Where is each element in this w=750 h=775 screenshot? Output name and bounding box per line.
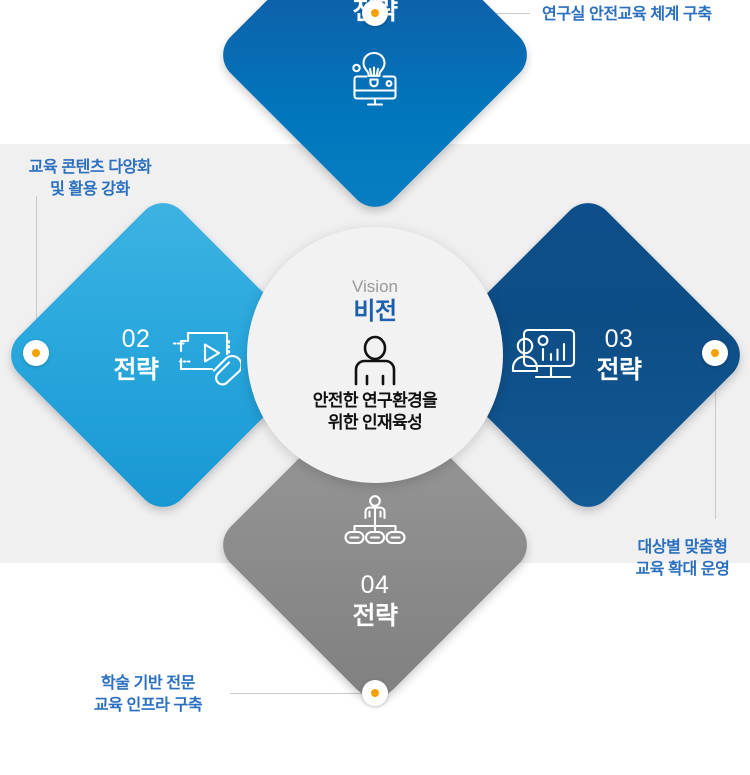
strategy-word-03: 전략 <box>596 354 641 386</box>
vision-label-en: Vision <box>352 277 398 297</box>
callout-04-line1: 학술 기반 전문 <box>78 673 218 695</box>
lightbulb-monitor-icon <box>344 49 406 109</box>
callout-03-line1: 대상별 맞춤형 <box>620 537 745 559</box>
presentation-chart-person-icon <box>510 324 582 386</box>
callout-02-line1: 교육 콘텐츠 다양화 <box>10 157 170 179</box>
connector-line-04 <box>230 693 370 694</box>
node-dot-02[interactable] <box>23 340 49 366</box>
vision-circle: Vision 비전 안전한 연구환경을 위한 인재육성 <box>247 227 503 483</box>
node-dot-03[interactable] <box>702 340 728 366</box>
callout-04-line2: 교육 인프라 구축 <box>78 695 218 717</box>
strategy-word-02: 전략 <box>113 354 158 386</box>
strategy-number-02: 02 <box>122 324 151 354</box>
strategy-word-04: 전략 <box>352 600 397 632</box>
org-chart-icon <box>344 494 406 548</box>
video-attachment-icon <box>171 324 241 386</box>
person-icon <box>349 334 401 386</box>
vision-label-ko: 비전 <box>353 298 396 326</box>
callout-label-01: 연구실 안전교육 체계 구축 <box>542 4 712 26</box>
callout-label-02: 교육 콘텐츠 다양화 및 활용 강화 <box>10 157 170 201</box>
node-dot-04[interactable] <box>362 680 388 706</box>
callout-label-03: 대상별 맞춤형 교육 확대 운영 <box>620 537 745 581</box>
strategy-number-04: 04 <box>361 570 390 600</box>
vision-statement-line1: 안전한 연구환경을 <box>313 390 437 412</box>
callout-label-04: 학술 기반 전문 교육 인프라 구축 <box>78 673 218 717</box>
callout-02-line2: 및 활용 강화 <box>10 179 170 201</box>
callout-01-line1: 연구실 안전교육 체계 구축 <box>542 4 712 26</box>
vision-statement-line2: 위한 인재육성 <box>328 412 422 434</box>
strategy-diagram: 01 전략 <box>0 0 750 720</box>
callout-03-line2: 교육 확대 운영 <box>620 559 745 581</box>
strategy-number-03: 03 <box>605 324 634 354</box>
node-dot-01[interactable] <box>362 0 388 26</box>
